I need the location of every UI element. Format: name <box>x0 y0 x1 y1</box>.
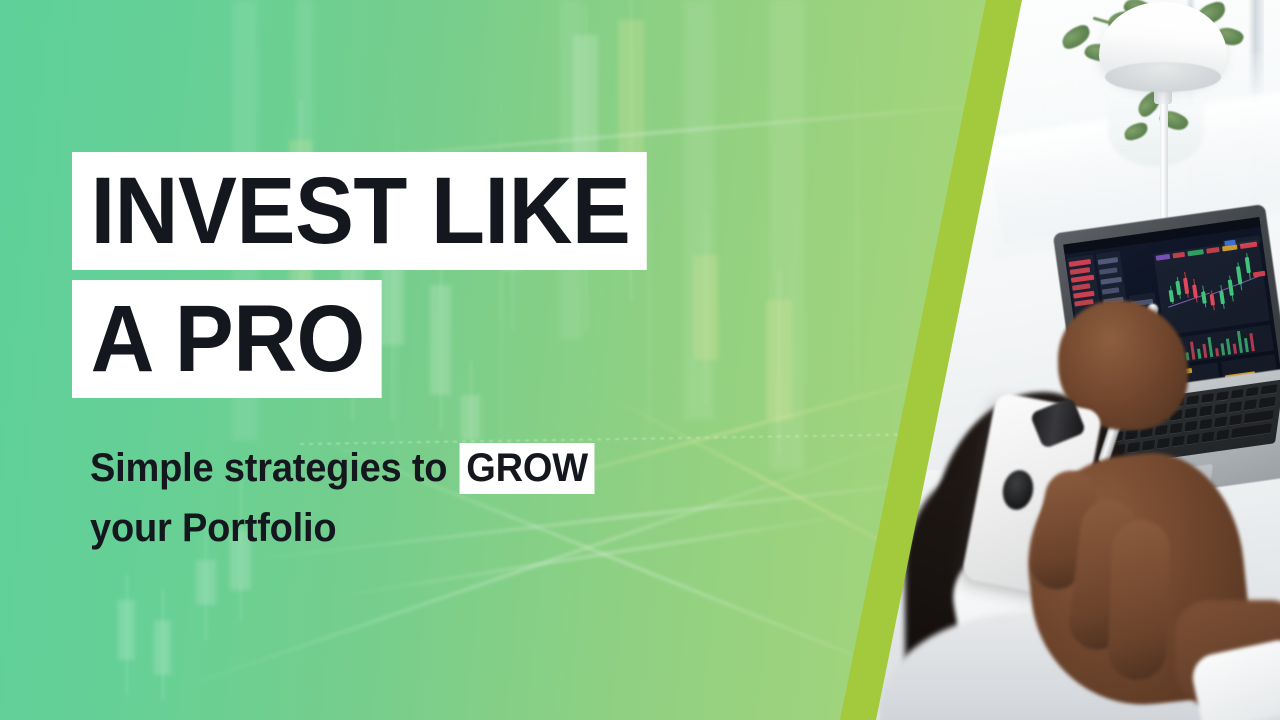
lamp-shade-inner <box>1105 62 1221 92</box>
subtitle-line-2: your Portfolio <box>90 498 595 558</box>
headline-line-1: INVEST LIKE <box>72 152 647 270</box>
subtitle-highlight-grow: GROW <box>460 443 595 494</box>
headline-line-2: A PRO <box>72 280 382 398</box>
subtitle: Simple strategies to GROW your Portfolio <box>90 438 595 558</box>
headline: INVEST LIKE A PRO <box>72 152 690 408</box>
subtitle-lead: Simple strategies to <box>90 446 458 490</box>
banner-canvas: INVEST LIKE A PRO Simple strategies to G… <box>0 0 1280 720</box>
finger <box>1107 519 1171 681</box>
